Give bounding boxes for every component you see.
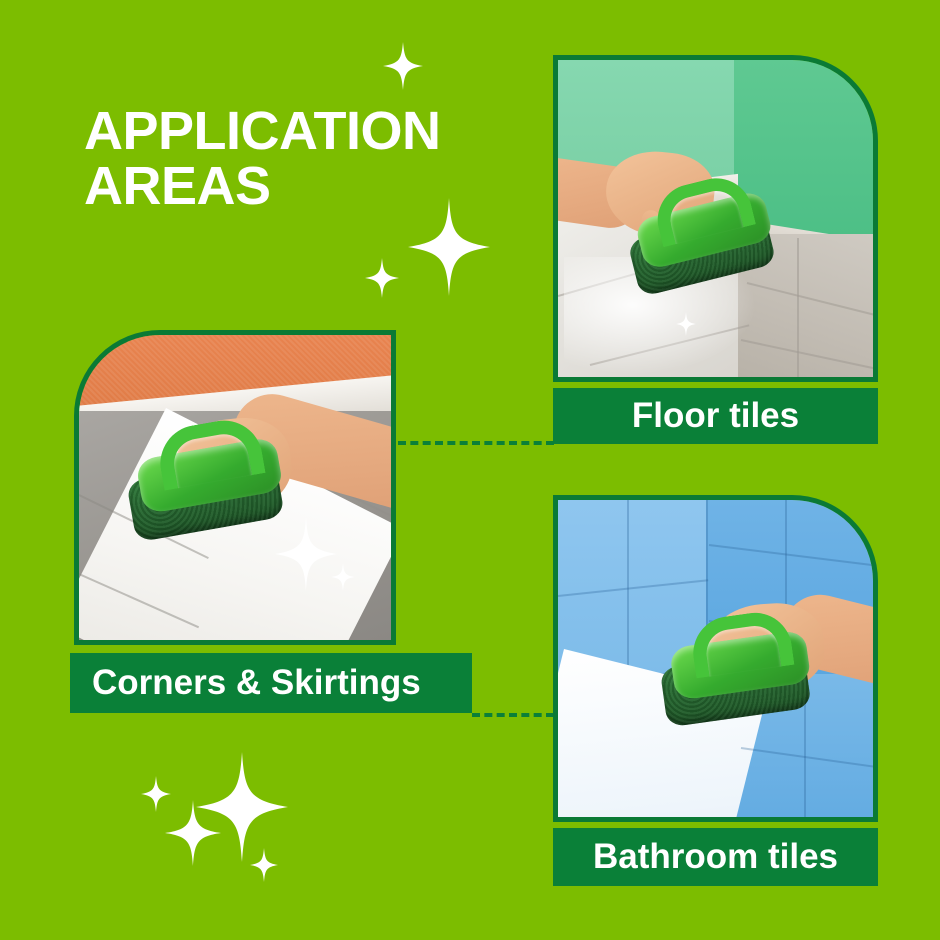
infographic-canvas: APPLICATIONAREAS bbox=[0, 0, 940, 940]
photo-corners-skirtings bbox=[79, 335, 391, 640]
panel-floor-tiles[interactable] bbox=[553, 55, 878, 382]
connector-line-corners-to-floor bbox=[398, 441, 554, 445]
page-title-line-2: AREAS bbox=[84, 156, 271, 216]
label-corners-skirtings[interactable]: Corners & Skirtings bbox=[70, 653, 472, 713]
page-title-line-1: APPLICATION bbox=[84, 101, 441, 161]
panel-corners-skirtings[interactable] bbox=[74, 330, 396, 645]
sparkle-icon bbox=[676, 312, 696, 336]
scene-grout-line bbox=[797, 238, 799, 377]
scene-tile-line bbox=[804, 697, 806, 817]
scene-tile-line bbox=[627, 500, 629, 678]
sparkle-icon bbox=[275, 517, 337, 591]
sparkle-icon bbox=[250, 848, 278, 882]
connector-line-corners-to-bathroom bbox=[472, 713, 554, 717]
label-floor-tiles[interactable]: Floor tiles bbox=[553, 388, 878, 444]
sparkle-icon bbox=[383, 42, 423, 90]
sparkle-icon bbox=[408, 198, 490, 296]
panel-bathroom-tiles[interactable] bbox=[553, 495, 878, 822]
sparkle-icon bbox=[165, 800, 221, 866]
label-bathroom-tiles[interactable]: Bathroom tiles bbox=[553, 828, 878, 886]
label-bathroom-tiles-text: Bathroom tiles bbox=[593, 837, 838, 877]
sparkle-icon bbox=[365, 258, 399, 298]
sparkle-icon bbox=[331, 563, 355, 591]
label-floor-tiles-text: Floor tiles bbox=[632, 396, 799, 436]
photo-floor-tiles bbox=[558, 60, 873, 377]
label-corners-skirtings-text: Corners & Skirtings bbox=[92, 663, 421, 703]
photo-bathroom-tiles bbox=[558, 500, 873, 817]
sparkle-icon bbox=[141, 776, 171, 812]
